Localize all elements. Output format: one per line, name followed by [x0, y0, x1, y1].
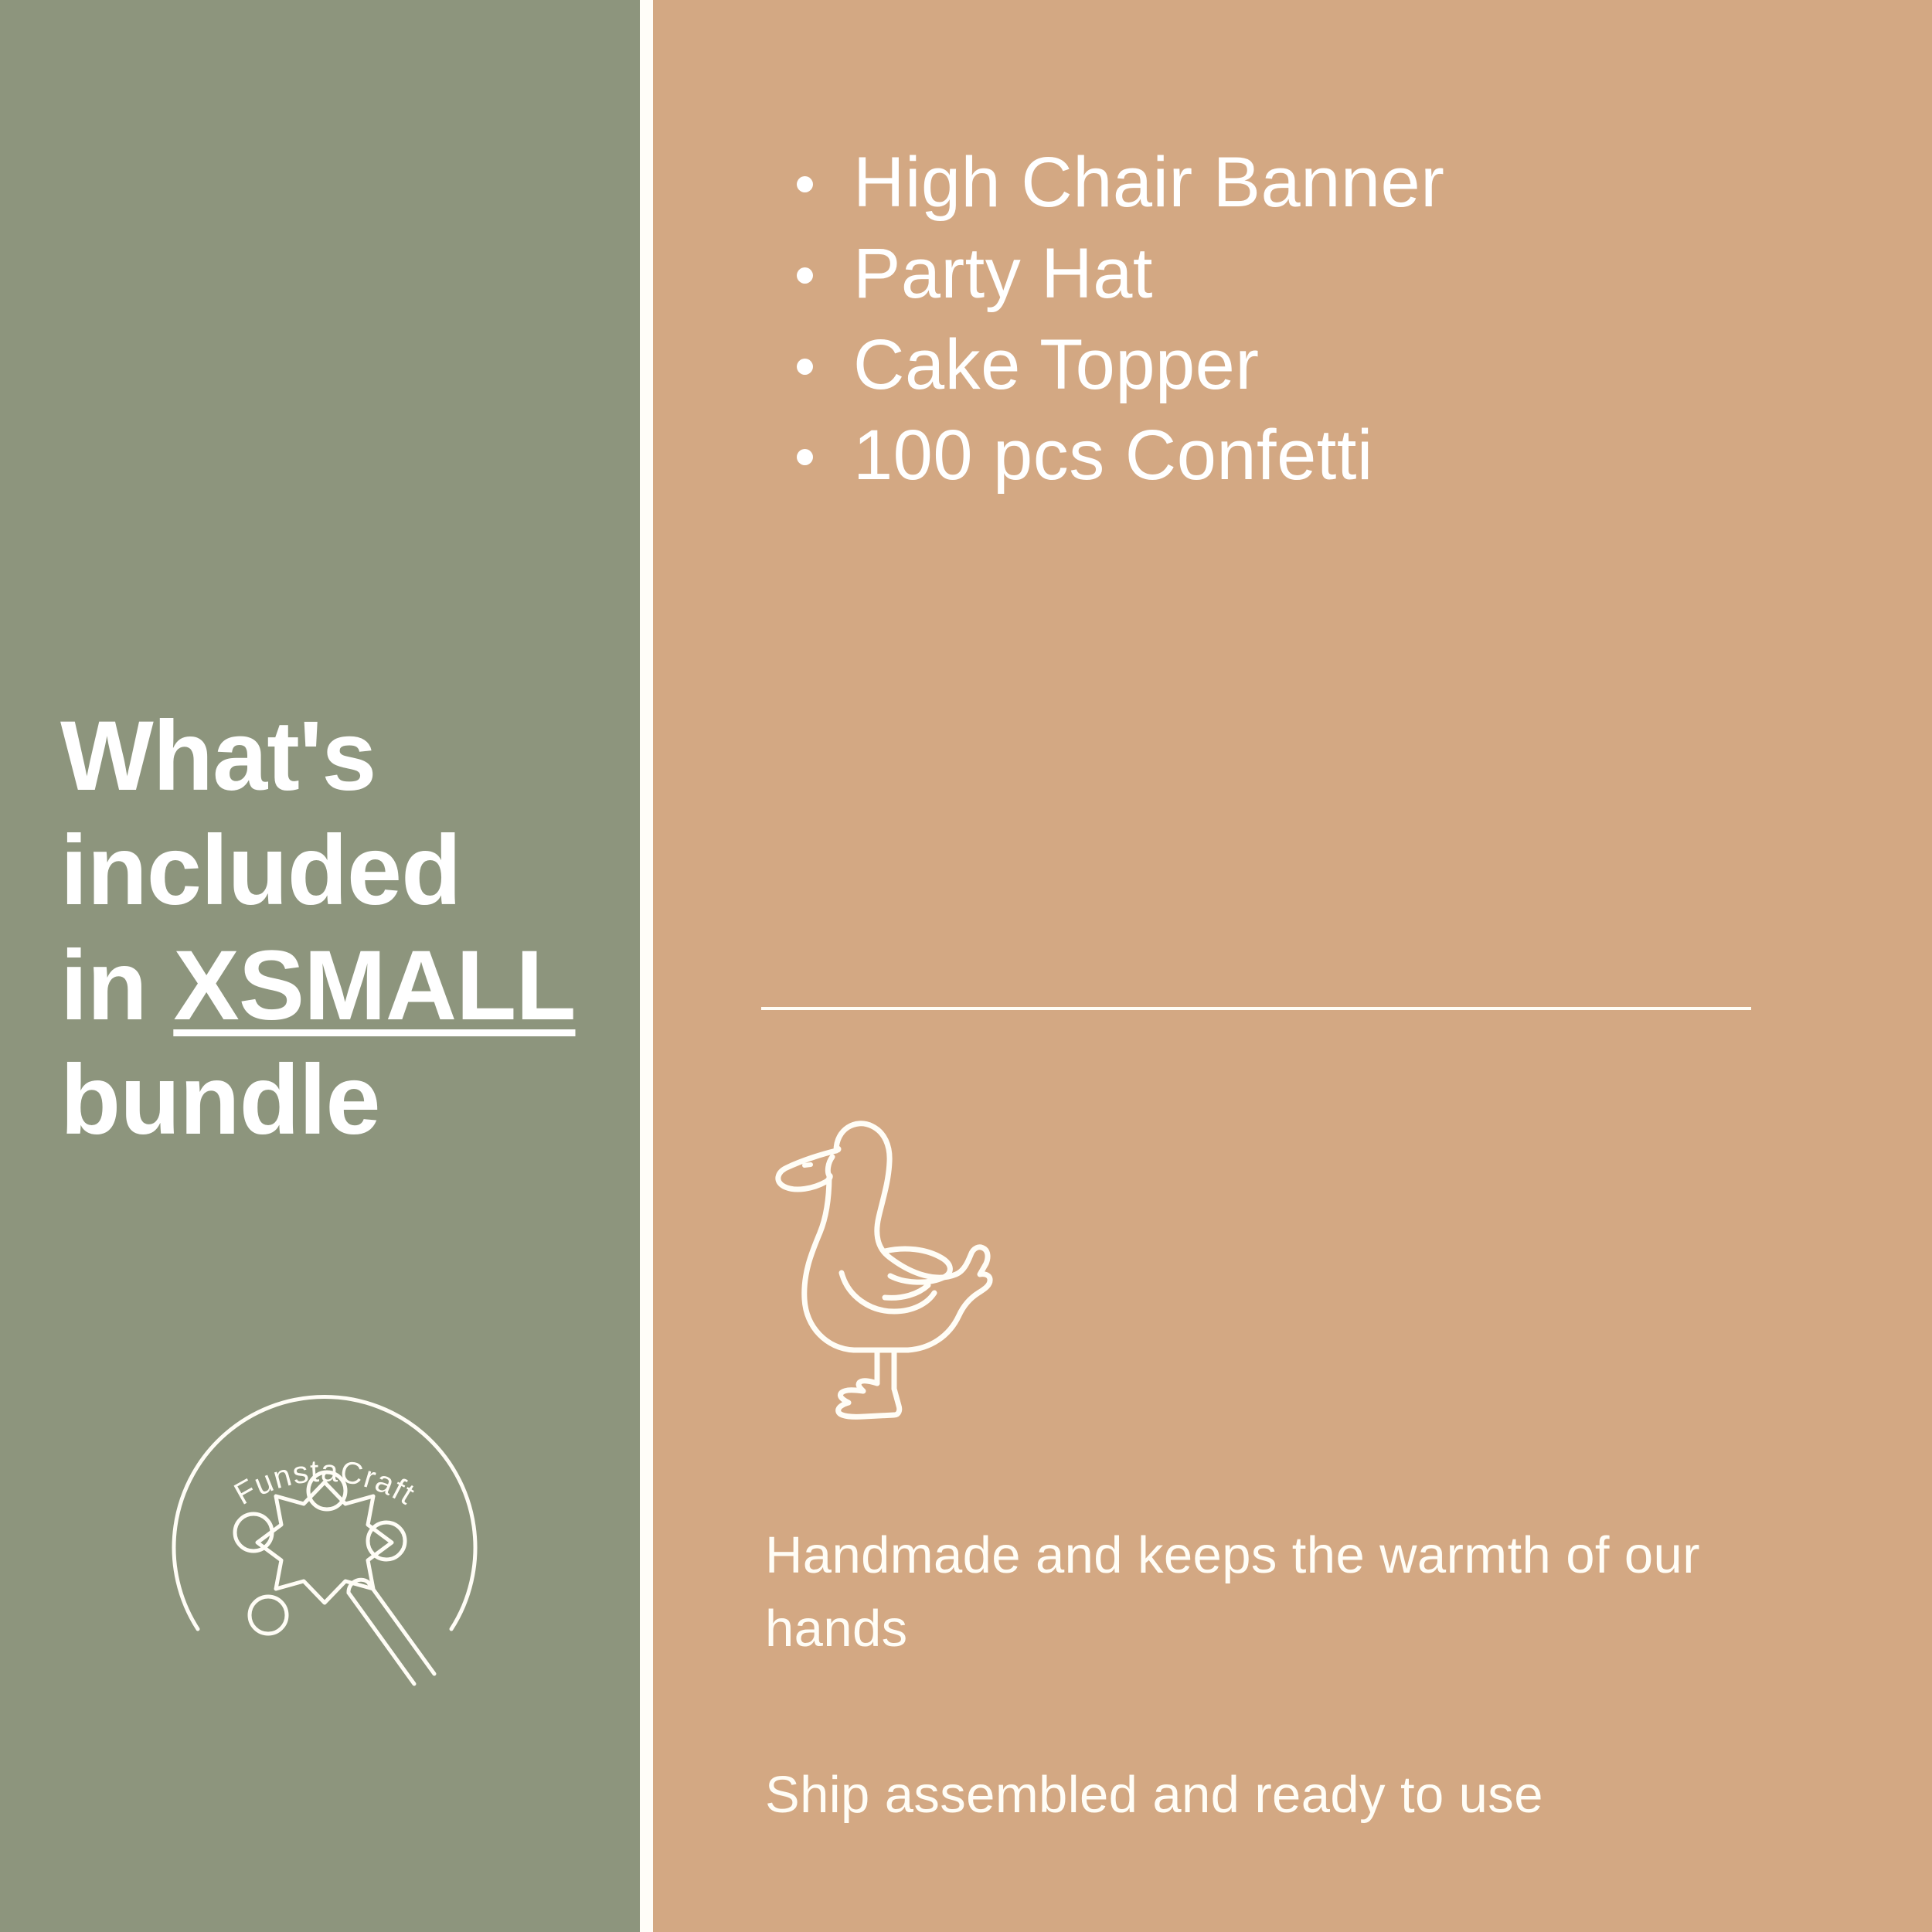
list-item: Party Hat	[790, 229, 1794, 320]
duck-wing-feather-2	[885, 1285, 928, 1298]
heading-line-2: included	[60, 815, 461, 926]
list-item: High Chair Banner	[790, 138, 1794, 229]
logo-wand-handle-edge	[368, 1582, 434, 1674]
heading-bundle-size: XSMALL	[173, 930, 575, 1041]
list-item-label: 100 pcs Confetti	[853, 416, 1373, 495]
brand-logo: FunstaCraft	[139, 1368, 510, 1739]
duck-bill-joint	[828, 1157, 832, 1175]
duck-foot	[838, 1381, 900, 1417]
bullet-dot-icon	[797, 359, 813, 375]
logo-sparkle-left-icon	[235, 1514, 272, 1551]
page-title: What's included in XSMALL bundle	[60, 699, 601, 1158]
list-item-label: Cake Topper	[853, 325, 1259, 404]
list-item: Cake Topper	[790, 320, 1794, 411]
product-info-graphic: What's included in XSMALL bundle FunstaC…	[0, 0, 1932, 1932]
section-divider	[761, 1007, 1751, 1010]
logo-sparkle-bottom-icon	[250, 1597, 287, 1634]
heading-line-1: What's	[60, 701, 376, 811]
logo-ring	[174, 1397, 475, 1629]
note-handmade: Handmade and keeps the warmth of our han…	[765, 1519, 1793, 1665]
bullet-dot-icon	[797, 176, 813, 192]
note-shipping: Ship assembled and ready to use	[765, 1758, 1793, 1832]
list-item: 100 pcs Confetti	[790, 410, 1794, 502]
panel-divider-gap	[640, 0, 653, 1932]
duck-illustration	[761, 1101, 1016, 1426]
bullet-dot-icon	[797, 267, 813, 284]
duck-nostril	[804, 1165, 811, 1165]
duck-back-outline	[836, 1124, 990, 1350]
logo-sparkle-right-icon	[368, 1522, 405, 1560]
duck-breast-outline	[804, 1175, 854, 1350]
duck-eye	[835, 1146, 842, 1153]
heading-line-4: bundle	[60, 1045, 380, 1155]
included-items-list: High Chair Banner Party Hat Cake Topper …	[790, 138, 1794, 502]
list-item-label: High Chair Banner	[853, 143, 1444, 222]
bullet-dot-icon	[797, 449, 813, 465]
duck-wing-top	[885, 1249, 950, 1282]
logo-wand-handle	[349, 1593, 414, 1684]
heading-line-3-prefix: in	[60, 930, 173, 1041]
list-item-label: Party Hat	[853, 234, 1153, 313]
